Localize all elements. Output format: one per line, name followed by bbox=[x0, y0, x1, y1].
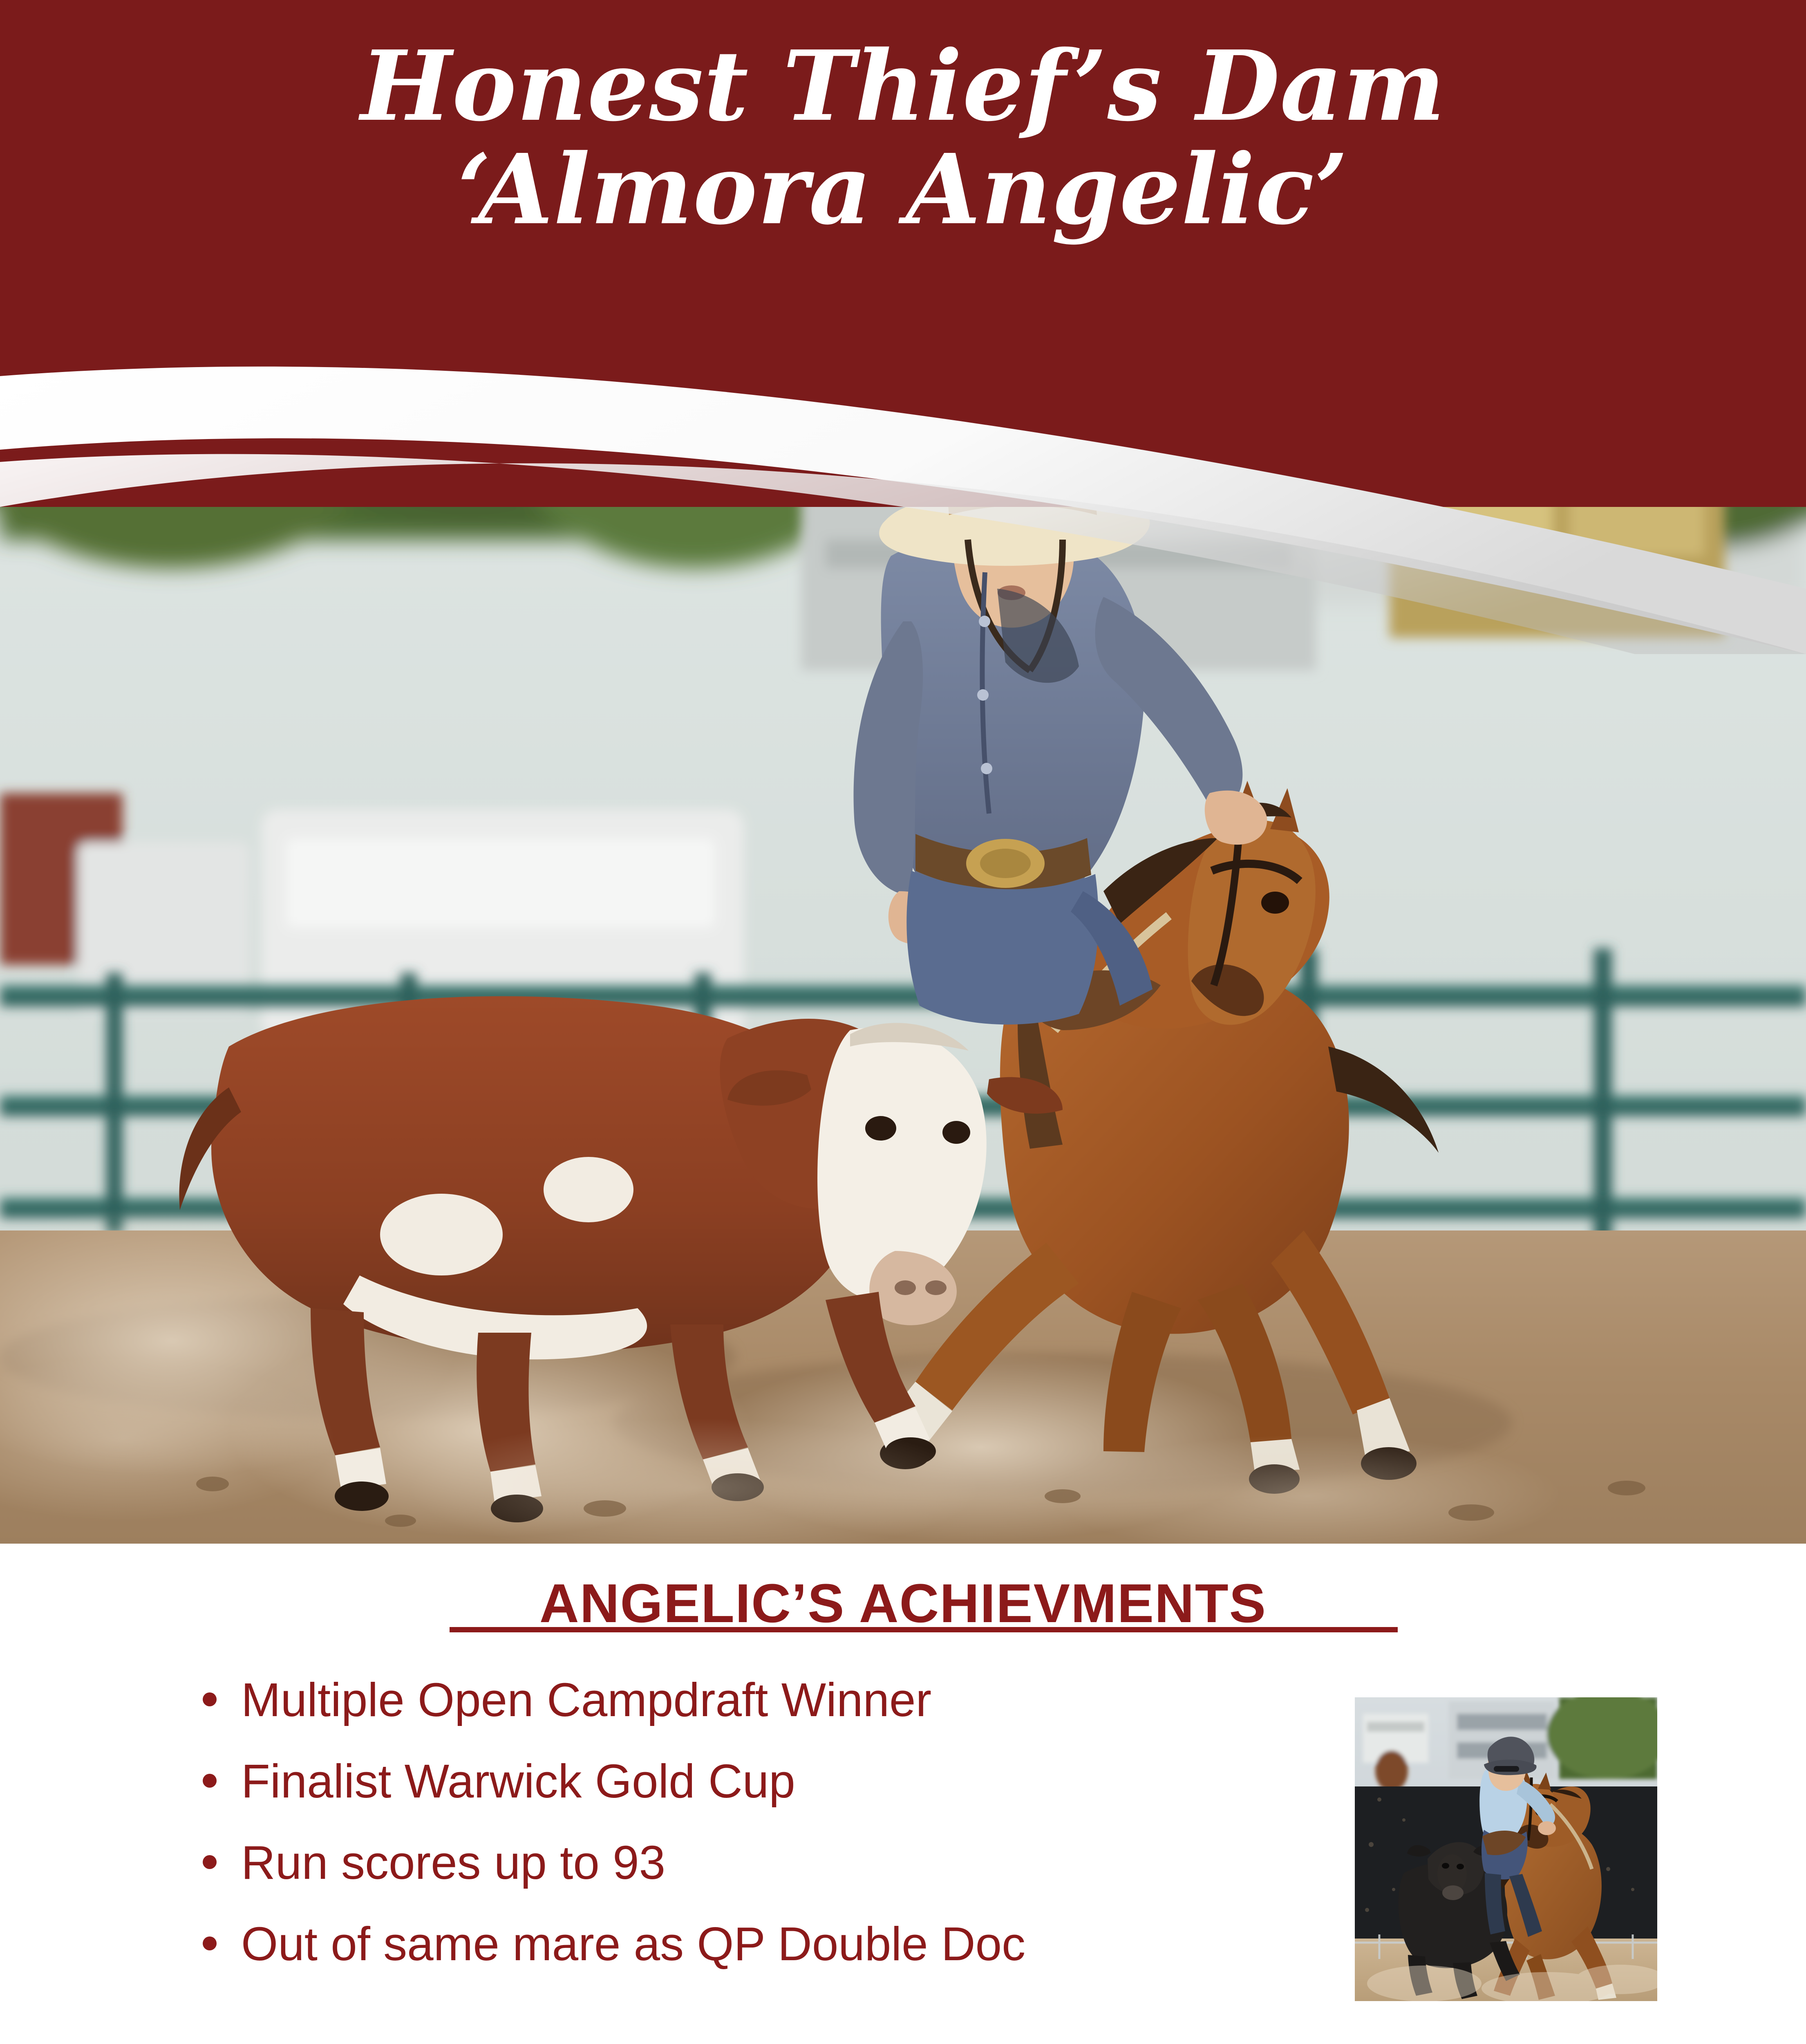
achievement-label: Finalist Warwick Gold Cup bbox=[241, 1755, 795, 1808]
title-line-2: ‘Almora Angelic’ bbox=[0, 135, 1806, 243]
inset-photo-artwork bbox=[1355, 1697, 1657, 2001]
achievements-heading: ANGELIC’S ACHIEVMENTS bbox=[0, 1572, 1806, 1635]
list-item: Run scores up to 93 bbox=[192, 1835, 1336, 1891]
list-item: Finalist Warwick Gold Cup bbox=[192, 1753, 1336, 1809]
header-banner: Honest Thief’s Dam ‘Almora Angelic’ bbox=[0, 0, 1806, 507]
bullet-dot-icon bbox=[203, 1774, 217, 1788]
list-item: Out of same mare as QP Double Doc bbox=[192, 1916, 1336, 1972]
achievement-label: Out of same mare as QP Double Doc bbox=[241, 1917, 1025, 1970]
achievements-list: Multiple Open Campdraft Winner Finalist … bbox=[192, 1672, 1336, 1997]
bullet-dot-icon bbox=[203, 1936, 217, 1950]
bullet-dot-icon bbox=[203, 1855, 217, 1869]
inset-photo bbox=[1355, 1697, 1657, 2001]
achievement-label: Multiple Open Campdraft Winner bbox=[241, 1673, 931, 1726]
achievement-label: Run scores up to 93 bbox=[241, 1836, 665, 1889]
list-item: Multiple Open Campdraft Winner bbox=[192, 1672, 1336, 1728]
heading-underline bbox=[450, 1627, 1398, 1632]
title-line-1: Honest Thief’s Dam bbox=[0, 37, 1806, 135]
page-title: Honest Thief’s Dam ‘Almora Angelic’ bbox=[0, 37, 1806, 243]
bullet-dot-icon bbox=[203, 1692, 217, 1706]
